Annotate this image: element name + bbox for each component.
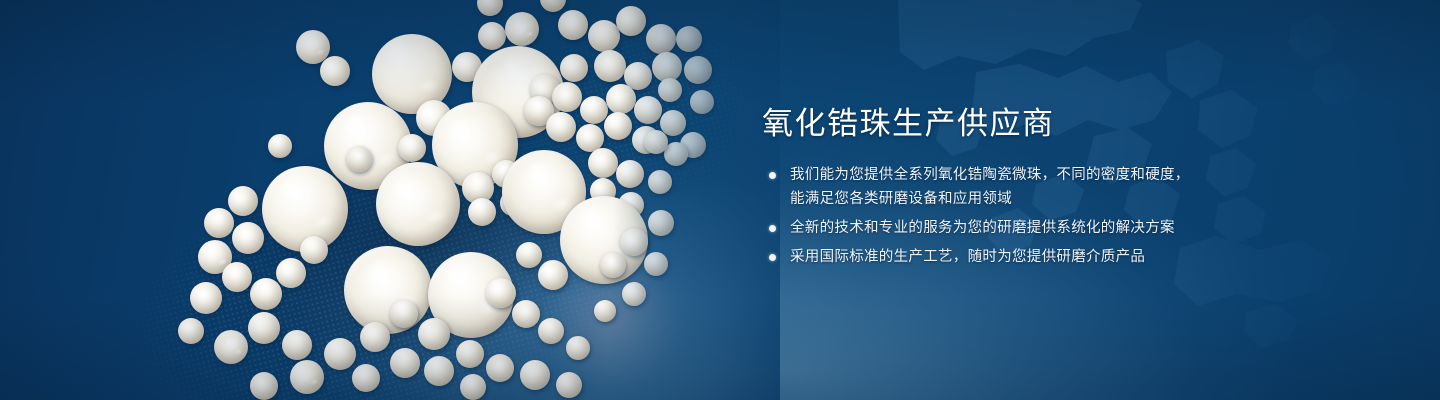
- banner-title: 氧化锆珠生产供应商: [762, 104, 1382, 144]
- bullet-item-3: 采用国际标准的生产工艺，随时为您提供研磨介质产品: [762, 245, 1382, 269]
- banner-copy: 氧化锆珠生产供应商 我们能为您提供全系列氧化锆陶瓷微珠，不同的密度和硬度， 能满…: [762, 104, 1382, 274]
- bullet-dot-icon: [769, 225, 776, 232]
- hero-banner: 氧化锆珠生产供应商 我们能为您提供全系列氧化锆陶瓷微珠，不同的密度和硬度， 能满…: [0, 0, 1440, 400]
- bullet-dot-icon: [769, 254, 776, 261]
- bullet-line-1: 我们能为您提供全系列氧化锆陶瓷微珠，不同的密度和硬度，: [790, 167, 1190, 183]
- bullet-line-2: 能满足您各类研磨设备和应用领域: [790, 187, 1382, 211]
- bullet-dot-icon: [769, 172, 776, 179]
- bullet-line-1: 采用国际标准的生产工艺，随时为您提供研磨介质产品: [790, 249, 1145, 265]
- bullet-item-1: 我们能为您提供全系列氧化锆陶瓷微珠，不同的密度和硬度， 能满足您各类研磨设备和应…: [762, 163, 1382, 211]
- banner-bullet-list: 我们能为您提供全系列氧化锆陶瓷微珠，不同的密度和硬度， 能满足您各类研磨设备和应…: [762, 163, 1382, 269]
- bullet-item-2: 全新的技术和专业的服务为您的研磨提供系统化的解决方案: [762, 216, 1382, 240]
- bullet-line-1: 全新的技术和专业的服务为您的研磨提供系统化的解决方案: [790, 220, 1175, 236]
